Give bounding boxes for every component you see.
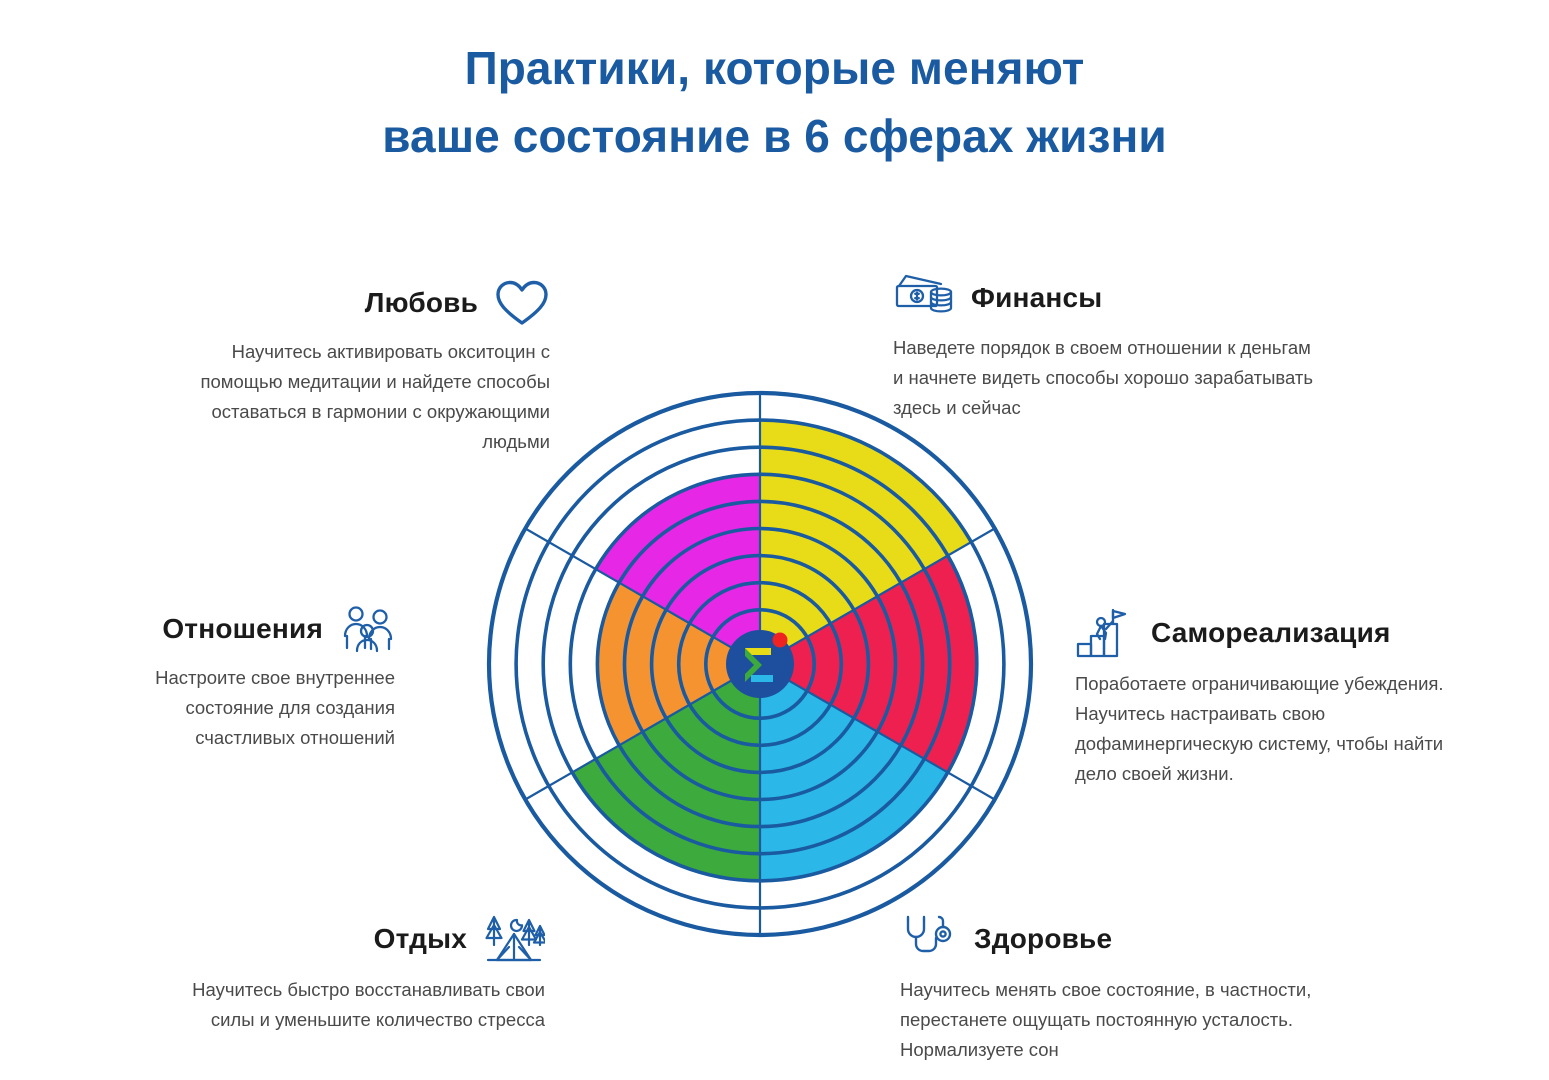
sector-block-finance: Финансы Наведете порядок в своем отношен… bbox=[893, 272, 1313, 423]
sector-title-finance: Финансы bbox=[971, 282, 1102, 314]
sector-desc-finance: Наведете порядок в своем отношении к ден… bbox=[893, 333, 1313, 423]
sector-desc-love: Научитесь активировать окситоцин с помощ… bbox=[178, 337, 550, 457]
sigma-part-2 bbox=[751, 675, 773, 682]
sector-head-rest: Отдых bbox=[185, 912, 545, 966]
sector-block-rest: Отдых Научитесь быстро восстанавливать с… bbox=[185, 912, 545, 1035]
sector-head-health: Здоровье bbox=[900, 912, 1320, 966]
heart-icon bbox=[494, 278, 550, 328]
page-title-line-2: ваше состояние в 6 сферах жизни bbox=[0, 102, 1549, 170]
sector-desc-health: Научитесь менять свое состояние, в частн… bbox=[900, 975, 1320, 1065]
sector-desc-rest: Научитесь быстро восстанавливать свои си… bbox=[185, 975, 545, 1035]
money-icon bbox=[893, 272, 955, 324]
sector-desc-self: Поработаете ограничивающие убеждения. На… bbox=[1075, 669, 1475, 789]
sector-head-self: Самореализация bbox=[1075, 606, 1475, 660]
podium-flag-icon bbox=[1075, 606, 1135, 660]
sector-desc-relations: Настроите свое внутреннее состояние для … bbox=[110, 663, 395, 753]
sector-block-relations: Отношения Настроите свое внутреннее сост… bbox=[110, 604, 395, 753]
tent-icon bbox=[483, 912, 545, 966]
wheel-svg bbox=[478, 382, 1042, 946]
sector-head-relations: Отношения bbox=[110, 604, 395, 654]
sector-head-love: Любовь bbox=[178, 278, 550, 328]
center-red-dot bbox=[773, 633, 788, 648]
sector-title-self: Самореализация bbox=[1151, 617, 1391, 649]
sector-block-health: Здоровье Научитесь менять свое состояние… bbox=[900, 912, 1320, 1065]
balance-wheel-chart bbox=[478, 382, 1042, 946]
sector-title-love: Любовь bbox=[365, 287, 478, 319]
stethoscope-icon bbox=[900, 912, 958, 966]
wheel-center-logo bbox=[726, 630, 794, 698]
family-icon bbox=[339, 604, 395, 654]
page-title-line-1: Практики, которые меняют bbox=[0, 34, 1549, 102]
sector-title-rest: Отдых bbox=[374, 923, 467, 955]
page-title: Практики, которые меняют ваше состояние … bbox=[0, 34, 1549, 170]
sector-block-love: Любовь Научитесь активировать окситоцин … bbox=[178, 278, 550, 457]
sector-head-finance: Финансы bbox=[893, 272, 1313, 324]
sector-title-health: Здоровье bbox=[974, 923, 1112, 955]
sector-title-relations: Отношения bbox=[162, 613, 323, 645]
sector-block-self: Самореализация Поработаете ограничивающи… bbox=[1075, 606, 1475, 789]
